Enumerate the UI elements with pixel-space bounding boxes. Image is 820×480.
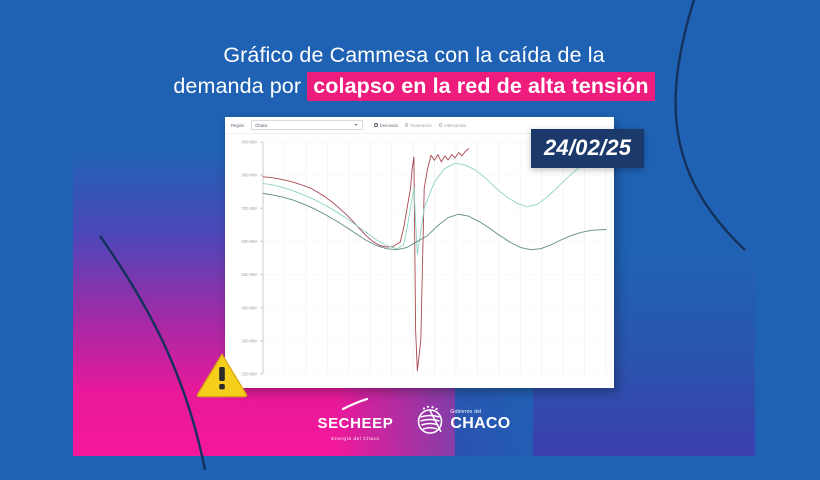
title-line-2-plain: demanda por: [173, 74, 307, 98]
svg-text:400 MW: 400 MW: [241, 305, 257, 310]
svg-text:600 MW: 600 MW: [241, 239, 257, 244]
page-title: Gráfico de Cammesa con la caída de la de…: [73, 40, 755, 102]
radio-demanda-label: Demanda: [380, 123, 398, 128]
chevron-down-icon: [354, 124, 358, 126]
title-line-1: Gráfico de Cammesa con la caída de la: [223, 43, 604, 67]
radio-dot-icon: [439, 123, 442, 126]
date-badge: 24/02/25: [531, 129, 644, 168]
series-radio-group: Demanda Generación Intercambio: [374, 123, 466, 128]
warning-triangle-icon: [196, 352, 248, 398]
radio-generacion[interactable]: Generación: [405, 123, 432, 128]
chart-plot-area: 900 MW800 MW700 MW600 MW500 MW400 MW300 …: [225, 134, 614, 388]
arrow-mark-icon: [342, 398, 368, 410]
radio-generacion-label: Generación: [410, 123, 432, 128]
secheep-tagline: Energía del Chaco: [331, 436, 379, 443]
region-label: Región: [231, 123, 244, 128]
chaco-shield-icon: [415, 405, 445, 435]
region-select[interactable]: Chaco: [251, 120, 363, 130]
gobierno-chaco-logo: Gobierno del CHACO: [415, 405, 510, 435]
region-select-value: Chaco: [255, 123, 267, 128]
svg-text:800 MW: 800 MW: [241, 173, 257, 178]
radio-demanda[interactable]: Demanda: [374, 123, 398, 128]
radio-dot-icon: [374, 123, 377, 126]
chaco-name: CHACO: [450, 415, 510, 432]
secheep-name: SECHEEP: [317, 416, 393, 431]
svg-text:500 MW: 500 MW: [241, 272, 257, 277]
footer-logos: SECHEEP Energía del Chaco Gobierno del C…: [73, 396, 755, 444]
radio-intercambio[interactable]: Intercambio: [439, 123, 466, 128]
svg-text:700 MW: 700 MW: [241, 206, 257, 211]
secheep-logo: SECHEEP Energía del Chaco: [317, 398, 393, 443]
radio-intercambio-label: Intercambio: [444, 123, 466, 128]
svg-text:300 MW: 300 MW: [241, 338, 257, 343]
slide-canvas: Gráfico de Cammesa con la caída de la de…: [0, 0, 820, 480]
title-line-2: demanda por colapso en la red de alta te…: [73, 71, 755, 102]
cammesa-line-chart: 900 MW800 MW700 MW600 MW500 MW400 MW300 …: [225, 134, 614, 388]
svg-text:900 MW: 900 MW: [241, 140, 257, 145]
title-highlight: colapso en la red de alta tensión: [307, 72, 654, 101]
radio-dot-icon: [405, 123, 408, 126]
